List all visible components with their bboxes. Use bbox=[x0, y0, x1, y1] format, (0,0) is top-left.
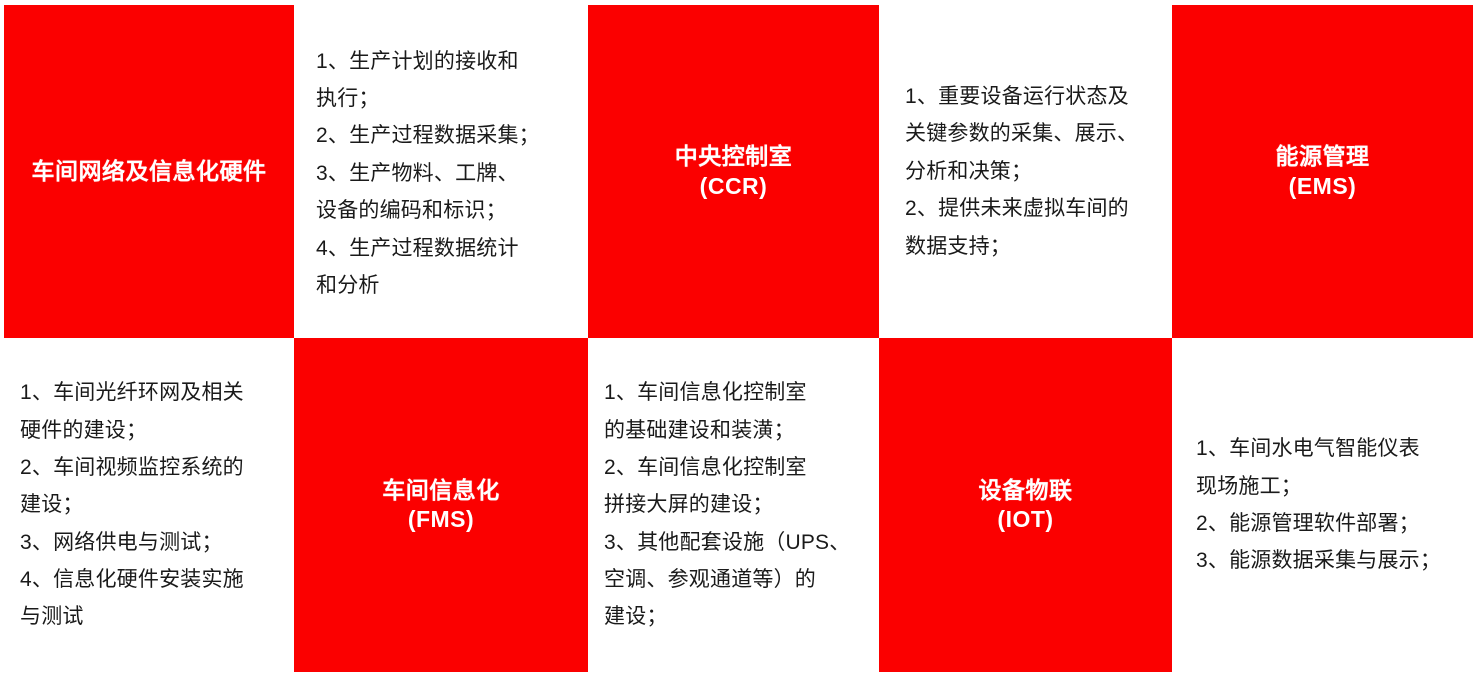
cell-production-plan-details: 1、生产计划的接收和 执行； 2、生产过程数据采集； 3、生产物料、工牌、 设备… bbox=[294, 5, 588, 338]
cell-title: 车间信息化 bbox=[368, 476, 514, 505]
title-block: 能源管理 (EMS) bbox=[1262, 142, 1384, 201]
list-item: 1、车间信息化控制室 bbox=[604, 374, 865, 411]
cell-energy-management[interactable]: 能源管理 (EMS) bbox=[1172, 5, 1473, 338]
cell-equipment-status-details: 1、重要设备运行状态及 关键参数的采集、展示、 分析和决策； 2、提供未来虚拟车… bbox=[879, 5, 1172, 338]
cell-abbreviation: (CCR) bbox=[661, 172, 807, 201]
list-item: 2、车间视频监控系统的 bbox=[20, 449, 280, 486]
cell-abbreviation: (IOT) bbox=[965, 505, 1087, 534]
cell-workshop-informatization[interactable]: 车间信息化 (FMS) bbox=[294, 338, 588, 672]
cell-title: 设备物联 bbox=[965, 476, 1087, 505]
list-item: 建设； bbox=[20, 486, 280, 523]
cell-network-hardware-details: 1、车间光纤环网及相关 硬件的建设； 2、车间视频监控系统的 建设； 3、网络供… bbox=[4, 338, 294, 672]
list-item: 硬件的建设； bbox=[20, 412, 280, 449]
cell-control-room-construction-details: 1、车间信息化控制室 的基础建设和装潢； 2、车间信息化控制室 拼接大屏的建设；… bbox=[588, 338, 879, 672]
list-item: 空调、参观通道等）的 bbox=[604, 561, 865, 598]
cell-equipment-iot[interactable]: 设备物联 (IOT) bbox=[879, 338, 1172, 672]
list-item: 和分析 bbox=[316, 267, 574, 304]
cell-energy-management-details: 1、车间水电气智能仪表 现场施工； 2、能源管理软件部署； 3、能源数据采集与展… bbox=[1172, 338, 1473, 672]
list-item: 现场施工； bbox=[1196, 468, 1459, 505]
matrix-grid: 车间网络及信息化硬件 1、生产计划的接收和 执行； 2、生产过程数据采集； 3、… bbox=[4, 5, 1473, 672]
list-item: 2、能源管理软件部署； bbox=[1196, 505, 1459, 542]
list-item: 3、生产物料、工牌、 bbox=[316, 155, 574, 192]
title-block: 设备物联 (IOT) bbox=[965, 476, 1087, 535]
list-item: 关键参数的采集、展示、 bbox=[905, 115, 1158, 152]
cell-workshop-network-hardware[interactable]: 车间网络及信息化硬件 bbox=[4, 5, 294, 338]
list-item: 2、车间信息化控制室 bbox=[604, 449, 865, 486]
list-item: 1、车间光纤环网及相关 bbox=[20, 374, 280, 411]
list-item: 与测试 bbox=[20, 598, 280, 635]
bullet-list: 1、重要设备运行状态及 关键参数的采集、展示、 分析和决策； 2、提供未来虚拟车… bbox=[879, 78, 1172, 265]
cell-title: 能源管理 bbox=[1262, 142, 1384, 171]
title-block: 车间信息化 (FMS) bbox=[368, 476, 514, 535]
list-item: 拼接大屏的建设； bbox=[604, 486, 865, 523]
bullet-list: 1、车间信息化控制室 的基础建设和装潢； 2、车间信息化控制室 拼接大屏的建设；… bbox=[588, 374, 879, 636]
title-block: 车间网络及信息化硬件 bbox=[8, 157, 291, 186]
list-item: 4、信息化硬件安装实施 bbox=[20, 561, 280, 598]
cell-abbreviation: (FMS) bbox=[368, 505, 514, 534]
bullet-list: 1、车间光纤环网及相关 硬件的建设； 2、车间视频监控系统的 建设； 3、网络供… bbox=[4, 374, 294, 636]
cell-title: 中央控制室 bbox=[661, 142, 807, 171]
list-item: 2、生产过程数据采集； bbox=[316, 117, 574, 154]
list-item: 3、网络供电与测试； bbox=[20, 524, 280, 561]
list-item: 的基础建设和装潢； bbox=[604, 412, 865, 449]
cell-abbreviation: (EMS) bbox=[1262, 172, 1384, 201]
title-block: 中央控制室 (CCR) bbox=[661, 142, 807, 201]
list-item: 1、生产计划的接收和 bbox=[316, 43, 574, 80]
list-item: 执行； bbox=[316, 80, 574, 117]
list-item: 3、其他配套设施（UPS、 bbox=[604, 524, 865, 561]
bullet-list: 1、生产计划的接收和 执行； 2、生产过程数据采集； 3、生产物料、工牌、 设备… bbox=[294, 39, 588, 305]
list-item: 3、能源数据采集与展示； bbox=[1196, 542, 1459, 579]
list-item: 分析和决策； bbox=[905, 153, 1158, 190]
list-item: 建设； bbox=[604, 598, 865, 635]
cell-title: 车间网络及信息化硬件 bbox=[18, 157, 281, 186]
list-item: 设备的编码和标识； bbox=[316, 192, 574, 229]
cell-central-control-room[interactable]: 中央控制室 (CCR) bbox=[588, 5, 879, 338]
bullet-list: 1、车间水电气智能仪表 现场施工； 2、能源管理软件部署； 3、能源数据采集与展… bbox=[1172, 430, 1473, 580]
list-item: 数据支持； bbox=[905, 228, 1158, 265]
list-item: 1、车间水电气智能仪表 bbox=[1196, 430, 1459, 467]
list-item: 1、重要设备运行状态及 bbox=[905, 78, 1158, 115]
list-item: 2、提供未来虚拟车间的 bbox=[905, 190, 1158, 227]
list-item: 4、生产过程数据统计 bbox=[316, 230, 574, 267]
module-matrix: 车间网络及信息化硬件 1、生产计划的接收和 执行； 2、生产过程数据采集； 3、… bbox=[0, 0, 1477, 682]
